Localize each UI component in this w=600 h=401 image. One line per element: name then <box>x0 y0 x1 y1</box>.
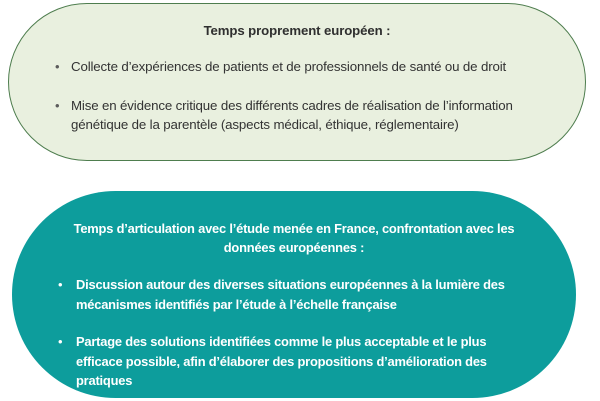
list-item: • Collecte d’expériences de patients et … <box>43 57 551 77</box>
list-item-text: Collecte d’expériences de patients et de… <box>71 57 551 77</box>
panel-articulation-time-bullet-list: • Discussion autour des diverses situati… <box>52 275 536 391</box>
list-item: • Discussion autour des diverses situati… <box>52 275 536 314</box>
list-item-text: Discussion autour des diverses situation… <box>76 275 536 314</box>
panel-articulation-time: Temps d’articulation avec l’étude menée … <box>12 191 576 398</box>
panel-european-time-bullet-list: • Collecte d’expériences de patients et … <box>43 57 551 135</box>
bullet-dot-icon: • <box>55 96 71 116</box>
bullet-dot-icon: • <box>58 275 76 295</box>
list-item-text: Mise en évidence critique des différents… <box>71 96 551 135</box>
bullet-dot-icon: • <box>55 57 71 77</box>
panel-european-time: Temps proprement européen : • Collecte d… <box>8 3 586 161</box>
list-item-text: Partage des solutions identifiées comme … <box>76 332 536 391</box>
list-item: • Partage des solutions identifiées comm… <box>52 332 536 391</box>
slide-canvas: Temps proprement européen : • Collecte d… <box>0 0 600 401</box>
panel-articulation-time-title: Temps d’articulation avec l’étude menée … <box>58 219 530 257</box>
bullet-dot-icon: • <box>58 332 76 352</box>
panel-european-time-title: Temps proprement européen : <box>43 23 551 38</box>
list-item: • Mise en évidence critique des différen… <box>43 96 551 135</box>
